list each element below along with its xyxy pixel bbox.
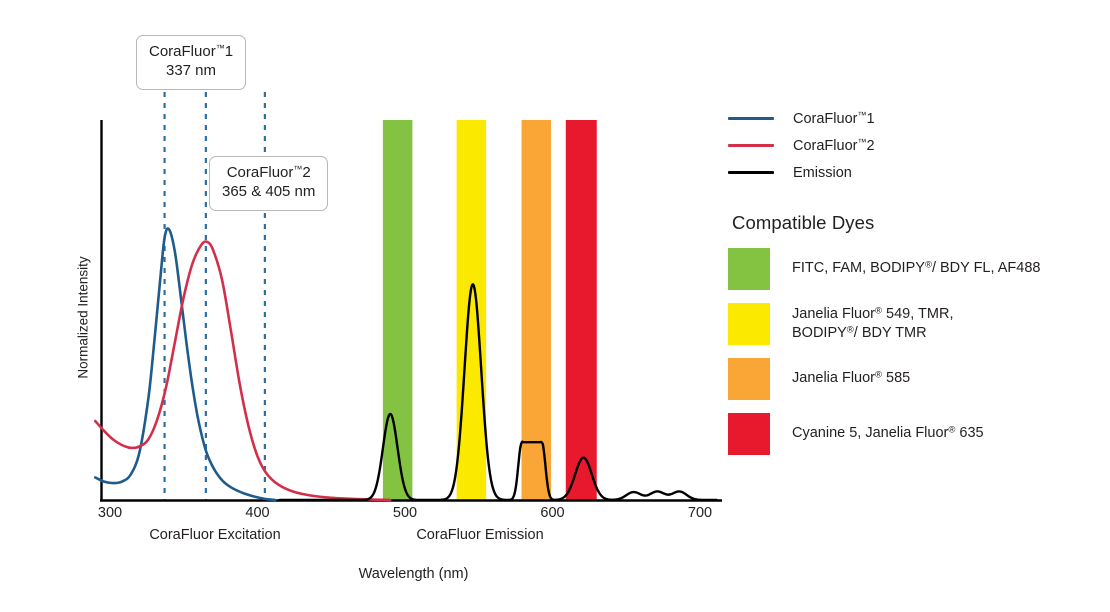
curve-corafluor1 xyxy=(95,228,275,500)
dye-row-1: Janelia Fluor® 549, TMR,BODIPY®/ BDY TMR xyxy=(728,303,1100,345)
x-tick-300: 300 xyxy=(80,505,140,521)
dye-color-swatch xyxy=(728,358,770,400)
fluorescence-spectra-figure: CoraFluor™1 337 nm CoraFluor™2 365 & 405… xyxy=(0,0,1110,612)
legend-line-swatch xyxy=(728,144,774,147)
dye-row-3: Cyanine 5, Janelia Fluor® 635 xyxy=(728,413,1100,455)
annotation-cf2-line2: 365 & 405 nm xyxy=(222,183,315,202)
legend-row-1: CoraFluor™2 xyxy=(728,132,1100,159)
yellow-band xyxy=(457,120,487,500)
dye-label: Janelia Fluor® 585 xyxy=(792,369,910,388)
legend-line-swatch xyxy=(728,171,774,174)
legend-line-swatch xyxy=(728,117,774,120)
dye-row-0: FITC, FAM, BODIPY®/ BDY FL, AF488 xyxy=(728,248,1100,290)
annotation-cf2-line1: CoraFluor™2 xyxy=(222,164,315,183)
legend-label: Emission xyxy=(793,165,852,181)
x-tick-600: 600 xyxy=(523,505,583,521)
x-tick-700: 700 xyxy=(670,505,730,521)
dye-label: Cyanine 5, Janelia Fluor® 635 xyxy=(792,424,984,443)
annotation-cf1-line1: CoraFluor™1 xyxy=(149,43,233,62)
dye-color-swatch xyxy=(728,248,770,290)
dye-label: FITC, FAM, BODIPY®/ BDY FL, AF488 xyxy=(792,259,1040,278)
annotation-cf1-line2: 337 nm xyxy=(149,62,233,81)
range-label-excitation: CoraFluor Excitation xyxy=(95,527,335,543)
x-tick-500: 500 xyxy=(375,505,435,521)
emission-band-overlays xyxy=(383,120,597,500)
legend-row-0: CoraFluor™1 xyxy=(728,105,1100,132)
dye-color-swatch xyxy=(728,413,770,455)
compatible-dyes-heading: Compatible Dyes xyxy=(732,212,1100,234)
x-tick-400: 400 xyxy=(228,505,288,521)
y-axis-title: Normalized Intensity xyxy=(76,228,91,408)
curve-corafluor2 xyxy=(95,241,390,500)
range-label-emission: CoraFluor Emission xyxy=(355,527,605,543)
legend-label: CoraFluor™1 xyxy=(793,110,875,127)
legend-label: CoraFluor™2 xyxy=(793,137,875,154)
compatible-dyes-list: FITC, FAM, BODIPY®/ BDY FL, AF488Janelia… xyxy=(728,248,1100,455)
x-axis-title: Wavelength (nm) xyxy=(0,566,827,582)
series-legend: CoraFluor™1CoraFluor™2Emission xyxy=(728,105,1100,186)
legend-and-dyes-panel: CoraFluor™1CoraFluor™2Emission Compatibl… xyxy=(728,105,1100,468)
red-band xyxy=(566,120,597,500)
dye-row-2: Janelia Fluor® 585 xyxy=(728,358,1100,400)
curve-emission xyxy=(280,284,717,500)
dye-label: Janelia Fluor® 549, TMR,BODIPY®/ BDY TMR xyxy=(792,305,953,344)
annotation-corafluor1: CoraFluor™1 337 nm xyxy=(136,35,246,90)
dye-color-swatch xyxy=(728,303,770,345)
legend-row-2: Emission xyxy=(728,159,1100,186)
annotation-corafluor2: CoraFluor™2 365 & 405 nm xyxy=(209,156,328,211)
